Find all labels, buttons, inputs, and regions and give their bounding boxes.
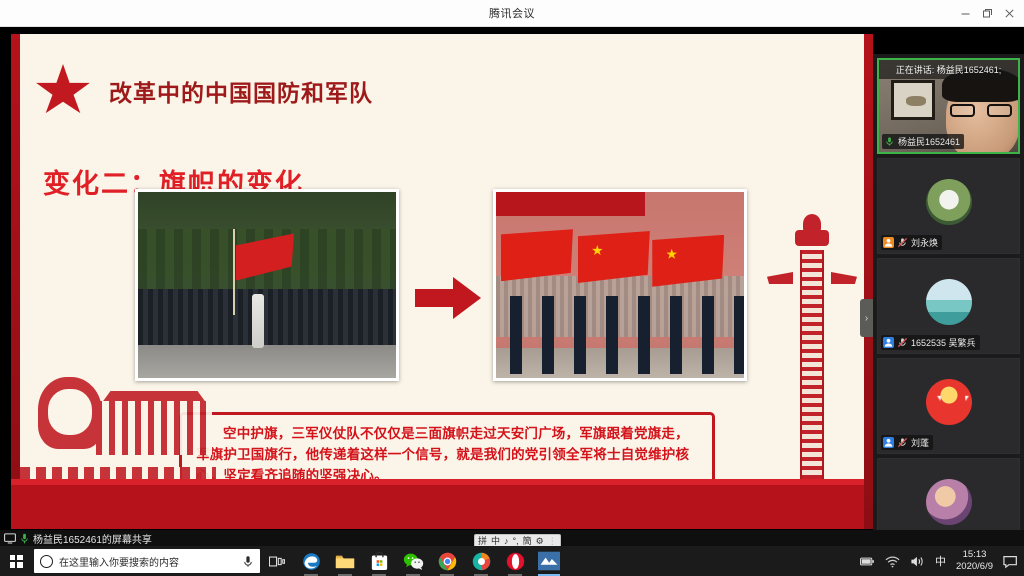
wifi-icon[interactable] (885, 554, 900, 569)
video-tile-participant-4[interactable]: 刘蓬 (877, 358, 1020, 454)
red-star-icon (35, 64, 91, 118)
battery-icon[interactable] (860, 554, 875, 569)
wechat-icon (403, 552, 424, 571)
ime-mode-pinyin[interactable]: 拼 (478, 537, 487, 546)
photo-national-flag (578, 231, 650, 283)
participant-video-panel: 正在讲话: 杨益民1652461; 杨益民1652461 (873, 54, 1024, 557)
taskbar-app-file-explorer[interactable] (328, 546, 362, 576)
mic-muted-icon (897, 237, 908, 248)
participant-name: 刘永焕 (911, 236, 938, 249)
slide-heading-row: 改革中的中国国防和军队 (35, 64, 373, 118)
taskbar-search-input[interactable]: 在这里输入你要搜索的内容 (34, 549, 260, 573)
windows-taskbar: 在这里输入你要搜索的内容 (0, 546, 1024, 576)
taskbar-app-wechat[interactable] (396, 546, 430, 576)
photo-party-flag (501, 229, 573, 281)
folder-icon (335, 553, 355, 570)
volume-icon[interactable] (910, 554, 925, 569)
share-status-text: 杨益民1652461的屏幕共享 (33, 531, 152, 546)
window-title: 腾讯会议 (489, 5, 535, 21)
host-badge-icon (883, 237, 894, 248)
ime-more-icon[interactable]: ⋮ (548, 537, 557, 546)
tile-name-badge: 刘永焕 (881, 235, 942, 250)
restore-button[interactable] (976, 3, 998, 25)
taskbar-app-google-chrome[interactable] (430, 546, 464, 576)
taskbar-app-opera[interactable] (498, 546, 532, 576)
photo-single-flag-parade (135, 189, 399, 381)
photo-honor-guard (496, 296, 744, 374)
clock-time: 15:13 (956, 549, 993, 561)
store-icon (371, 552, 388, 571)
avatar (926, 379, 972, 425)
minimize-button[interactable] (954, 3, 976, 25)
ime-punctuation-toggle[interactable]: °, (513, 537, 519, 546)
photo-ground (138, 345, 396, 378)
video-tile-participant-2[interactable]: 刘永焕 (877, 158, 1020, 254)
taskbar-clock[interactable]: 15:13 2020/6/9 (956, 549, 993, 573)
action-center-icon[interactable] (1003, 554, 1018, 569)
ime-language-toggle[interactable]: 中 (491, 537, 500, 546)
tile-name-badge: 刘蓬 (881, 435, 933, 450)
avatar (926, 279, 972, 325)
tencent-meeting-window: 腾讯会议 (0, 0, 1024, 576)
ime-settings-icon[interactable]: ⚙ (536, 537, 544, 546)
tray-ime-indicator[interactable]: 中 (935, 553, 946, 569)
mic-muted-icon (897, 437, 908, 448)
restore-icon (982, 8, 993, 19)
participant-name: 1652535 吴繁兵 (911, 336, 976, 349)
huabiao-column-decoration (789, 224, 835, 492)
photo-troops (138, 289, 396, 349)
slide-bottom-band (11, 485, 873, 529)
photo-flag-star (592, 245, 603, 256)
title-bar: 腾讯会议 (0, 0, 1024, 27)
close-button[interactable] (998, 3, 1020, 25)
opera-icon (506, 552, 525, 571)
lion-tiananmen-decoration (20, 375, 216, 485)
ime-simplified-toggle[interactable]: 簡 (523, 537, 532, 546)
video-tile-participant-3[interactable]: 1652535 吴繁兵 (877, 258, 1020, 354)
window-controls (954, 0, 1020, 27)
cortana-icon (40, 555, 53, 568)
slide-heading: 改革中的中国国防和军队 (109, 74, 373, 108)
video-tile-active-speaker[interactable]: 正在讲话: 杨益民1652461; 杨益民1652461 (877, 58, 1020, 154)
search-placeholder: 在这里输入你要搜索的内容 (59, 554, 236, 569)
taskbar-app-browser-teal[interactable] (464, 546, 498, 576)
taskbar-app-tencent-meeting[interactable] (532, 546, 566, 576)
transition-arrow-icon (415, 277, 481, 317)
photo-three-flags-parade (493, 189, 747, 381)
mic-icon (20, 533, 29, 544)
monitor-icon (4, 533, 16, 544)
mic-on-icon (884, 136, 895, 147)
participant-name: 杨益民1652461 (898, 135, 960, 148)
avatar (926, 479, 972, 525)
edge-icon (302, 552, 321, 571)
shared-screen-region[interactable]: 改革中的中国国防和军队 变化二：旗帜的变化 (11, 34, 873, 529)
photo-flag-bearer (252, 294, 264, 348)
wall-picture-frame (891, 80, 935, 120)
mic-muted-icon (897, 337, 908, 348)
participant-name: 刘蓬 (911, 436, 929, 449)
photo-flag-pole (233, 229, 235, 315)
taskbar-app-microsoft-store[interactable] (362, 546, 396, 576)
windows-logo-icon (10, 555, 23, 568)
ime-sound-toggle[interactable]: ♪ (504, 537, 509, 546)
voice-search-icon[interactable] (242, 555, 254, 568)
browser-icon (472, 552, 491, 571)
photo-flag-star-2 (666, 249, 677, 260)
tile-name-badge: 1652535 吴繁兵 (881, 335, 980, 350)
system-tray: 中 15:13 2020/6/9 (860, 549, 1024, 573)
quote-text: 空中护旗，三军仪仗队不仅仅是三面旗帜走过天安门广场，军旗跟着党旗走，军旗护卫国旗… (196, 424, 698, 487)
tile-name-badge: 杨益民1652461 (882, 134, 964, 149)
glasses-icon (950, 104, 1012, 117)
start-button[interactable] (0, 546, 32, 576)
clock-date: 2020/6/9 (956, 561, 993, 573)
photo-army-flag-right (652, 235, 724, 287)
chrome-icon (438, 552, 457, 571)
avatar (926, 179, 972, 225)
photo-banner (496, 192, 645, 216)
presentation-slide: 改革中的中国国防和军队 变化二：旗帜的变化 (11, 34, 873, 529)
collapse-video-panel-handle[interactable]: › (860, 299, 873, 337)
task-view-button[interactable] (260, 546, 294, 576)
minimize-icon (960, 8, 971, 19)
cohost-badge-icon (883, 437, 894, 448)
tencent-meeting-icon (538, 551, 560, 571)
task-view-icon (269, 555, 285, 568)
cohost-badge-icon (883, 337, 894, 348)
close-icon (1004, 8, 1015, 19)
speaking-banner: 正在讲话: 杨益民1652461; (879, 60, 1018, 79)
meeting-main-area: 改革中的中国国防和军队 变化二：旗帜的变化 (0, 27, 1024, 530)
taskbar-app-microsoft-edge[interactable] (294, 546, 328, 576)
